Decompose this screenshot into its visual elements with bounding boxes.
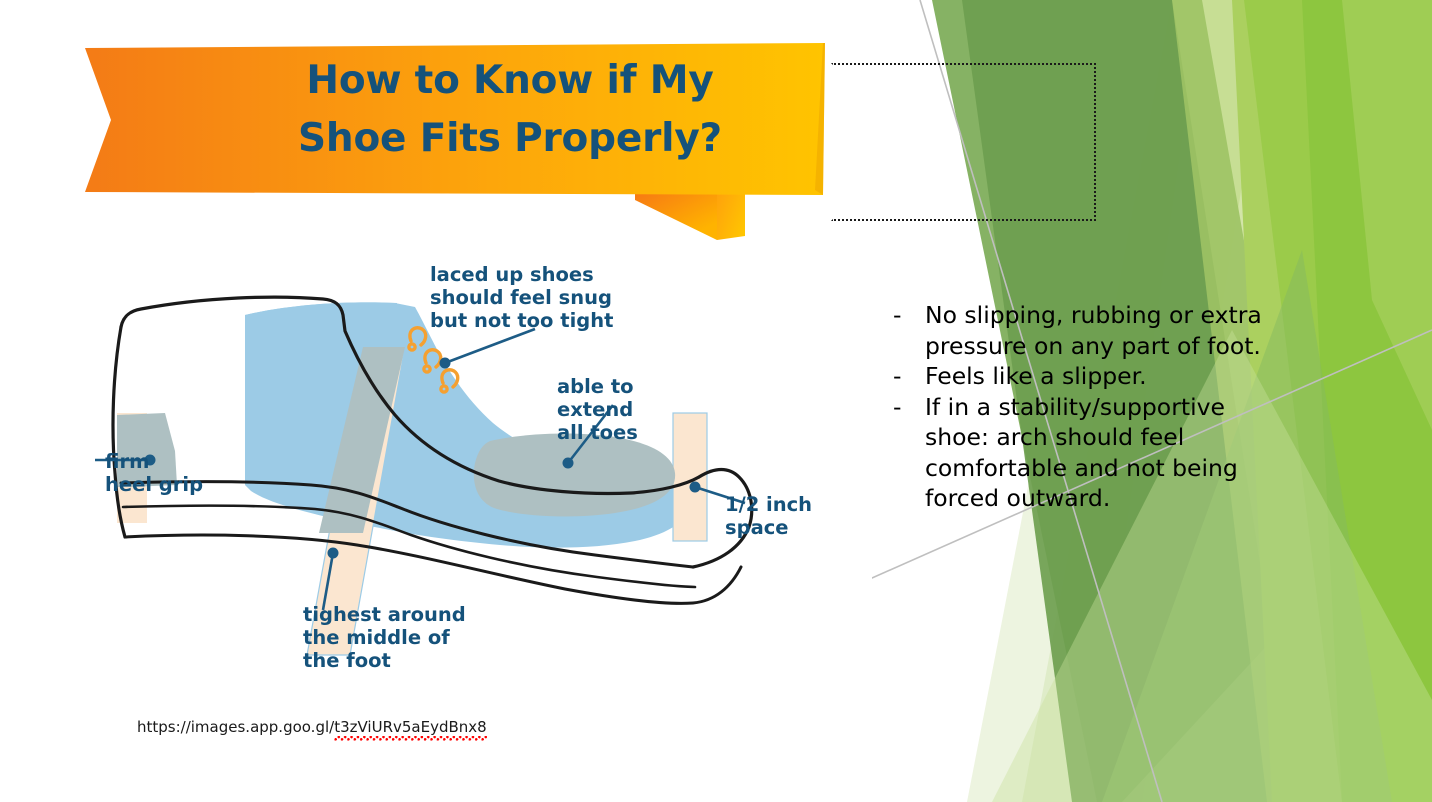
source-url[interactable]: https://images.app.goo.gl/t3zViURv5aEydB… xyxy=(137,718,487,736)
bullet-marker: - xyxy=(893,300,925,331)
title-line-1: How to Know if My xyxy=(306,58,713,103)
label-tightest-around-middle: tighest around the middle of the foot xyxy=(303,603,472,672)
bullet-marker: - xyxy=(893,361,925,392)
page-title: How to Know if My Shoe Fits Properly? xyxy=(210,52,810,167)
toe-pressure-gray xyxy=(474,434,675,517)
shoe-sole-bottom xyxy=(125,535,741,603)
label-half-inch-space: 1/2 inch space xyxy=(725,493,819,539)
list-item: - No slipping, rubbing or extra pressure… xyxy=(893,300,1293,361)
list-item: - If in a stability/supportive shoe: arc… xyxy=(893,392,1293,514)
title-ribbon-banner: How to Know if My Shoe Fits Properly? xyxy=(85,40,845,240)
slide-canvas: How to Know if My Shoe Fits Properly? - … xyxy=(0,0,1432,802)
list-item-text: Feels like a slipper. xyxy=(925,361,1293,392)
source-url-prefix: https://images.app.goo.gl/ xyxy=(137,718,334,736)
label-able-to-extend: able to extend all toes xyxy=(557,375,640,444)
list-item-text: If in a stability/supportive shoe: arch … xyxy=(925,392,1293,514)
label-firm-heel-grip: firm heel grip xyxy=(105,450,203,496)
bullet-marker: - xyxy=(893,392,925,423)
bullet-list: - No slipping, rubbing or extra pressure… xyxy=(893,300,1293,514)
list-item-text: No slipping, rubbing or extra pressure o… xyxy=(925,300,1293,361)
title-line-2: Shoe Fits Properly? xyxy=(210,110,810,168)
source-url-id: t3zViURv5aEydBnx8 xyxy=(334,718,487,741)
list-item: - Feels like a slipper. xyxy=(893,361,1293,392)
shoe-fit-diagram: laced up shoes should feel snug but not … xyxy=(95,255,855,675)
empty-content-placeholder[interactable] xyxy=(831,63,1096,221)
label-laced-up-shoes: laced up shoes should feel snug but not … xyxy=(430,263,619,332)
